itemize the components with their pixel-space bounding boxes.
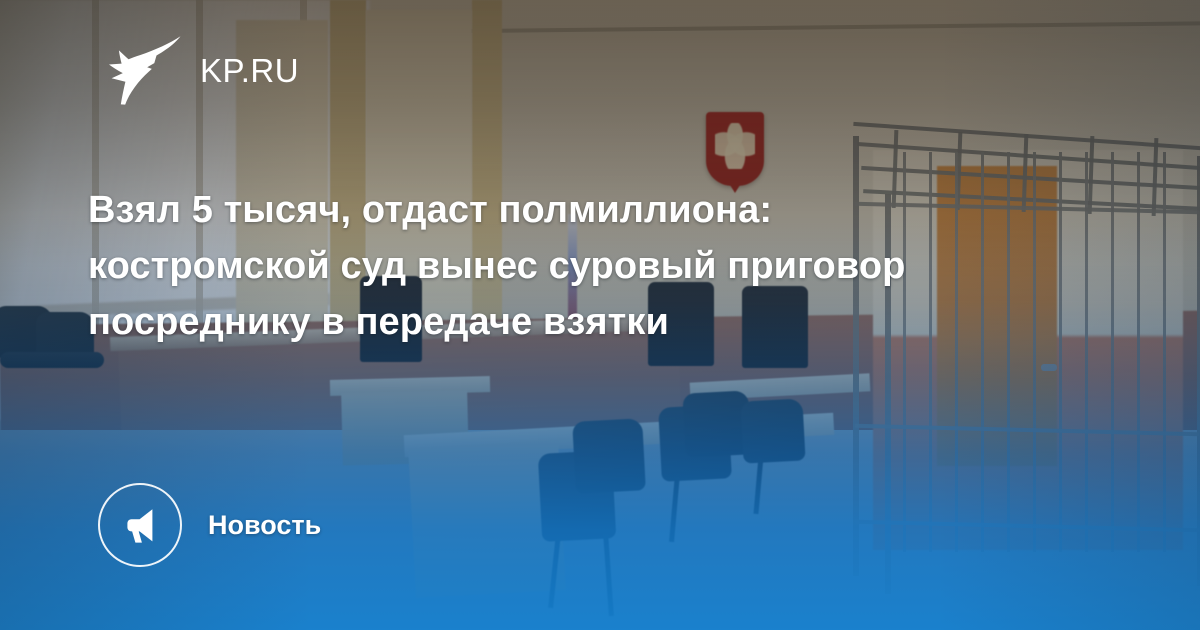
share-card: KP.RU Взял 5 тысяч, отдаст полмиллиона: … (0, 0, 1200, 630)
swallow-bird-icon (108, 34, 182, 106)
brand-lockup[interactable]: KP.RU (108, 34, 299, 106)
page-title: Взял 5 тысяч, отдаст полмиллиона: костро… (88, 182, 948, 350)
megaphone-icon (119, 504, 161, 546)
badge-ring (98, 483, 182, 567)
card-content: KP.RU Взял 5 тысяч, отдаст полмиллиона: … (0, 0, 1200, 630)
status-badge[interactable]: Новость (98, 483, 321, 567)
brand-name: KP.RU (200, 54, 299, 87)
badge-label: Новость (208, 512, 321, 539)
